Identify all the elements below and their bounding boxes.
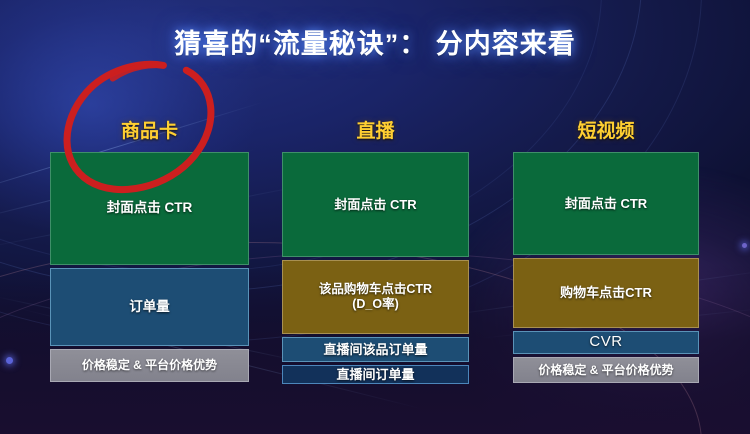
metric-label: 订单量	[129, 299, 170, 315]
metric-label: 封面点击 CTR	[107, 200, 193, 216]
metric-block-cvr: CVR	[513, 331, 699, 354]
metric-label: 直播间订单量	[336, 367, 414, 383]
column-livestream: 直播 封面点击 CTR 该品购物车点击CTR (D_O率) 直播间该品订单量 直…	[282, 116, 469, 387]
column-header: 商品卡	[50, 116, 249, 143]
metric-block-cart-click-ctr: 购物车点击CTR	[513, 258, 699, 328]
metric-label: 封面点击 CTR	[334, 197, 416, 213]
metric-label: 直播间该品订单量	[323, 342, 427, 358]
metric-block-cover-click-ctr: 封面点击 CTR	[282, 152, 469, 257]
background-dot	[742, 243, 747, 248]
metric-label: 该品购物车点击CTR	[319, 282, 432, 297]
metric-label: 封面点击 CTR	[565, 196, 647, 212]
column-header: 短视频	[513, 116, 699, 143]
metric-block-cover-click-ctr: 封面点击 CTR	[50, 152, 249, 265]
column-short-video: 短视频 封面点击 CTR 购物车点击CTR CVR 价格稳定 & 平台价格优势	[513, 116, 699, 386]
metric-block-price-advantage: 价格稳定 & 平台价格优势	[513, 357, 699, 383]
metric-block-product-cart-click-ctr: 该品购物车点击CTR (D_O率)	[282, 260, 469, 334]
column-product-card: 商品卡 封面点击 CTR 订单量 价格稳定 & 平台价格优势	[50, 116, 249, 385]
background-dot	[6, 357, 13, 364]
metric-block-order-volume: 订单量	[50, 268, 249, 346]
slide-title: 猜喜的“流量秘诀”： 分内容来看	[0, 22, 750, 61]
metric-block-room-product-orders: 直播间该品订单量	[282, 337, 469, 362]
metric-block-cover-click-ctr: 封面点击 CTR	[513, 152, 699, 255]
metric-label: 价格稳定 & 平台价格优势	[82, 358, 217, 373]
metric-label: 购物车点击CTR	[560, 285, 652, 301]
metric-label: CVR	[589, 333, 622, 351]
metric-block-price-advantage: 价格稳定 & 平台价格优势	[50, 349, 249, 382]
metric-sublabel: (D_O率)	[352, 297, 399, 312]
metric-label: 价格稳定 & 平台价格优势	[538, 363, 673, 378]
column-header: 直播	[282, 116, 469, 143]
slide-canvas: 猜喜的“流量秘诀”： 分内容来看 商品卡 封面点击 CTR 订单量 价格稳定 &…	[0, 0, 750, 434]
metric-block-room-orders: 直播间订单量	[282, 365, 469, 384]
